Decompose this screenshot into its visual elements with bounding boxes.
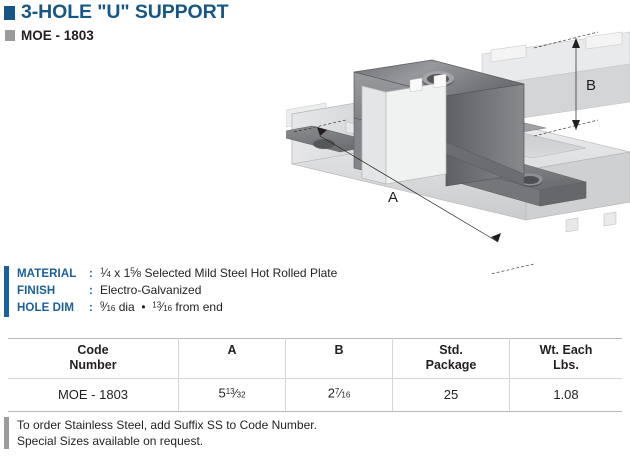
footer-note-1: To order Stainless Steel, add Suffix SS … [17,417,317,433]
product-data-table: Code Number A B Std. Package Wt. Each Lb… [8,338,622,412]
channel-front-lip [362,74,446,184]
header-line-1: A [179,343,285,358]
header-line-1: Code [8,343,178,358]
specs-list: MATERIAL : 1⁄4 x 15⁄8 Selected Mild Stee… [17,266,337,317]
spec-value-material: 1⁄4 x 15⁄8 Selected Mild Steel Hot Rolle… [100,266,337,280]
specs-accent-bar [4,266,9,317]
column-header-std-package: Std. Package [393,339,510,379]
dimension-a-label: A [388,189,398,206]
dimension-b-label: B [586,77,596,94]
cell-b: 27⁄16 [286,379,393,412]
header-line-2: Package [393,358,509,373]
column-header-a: A [179,339,286,379]
product-code-subtitle: MOE - 1803 [21,29,94,43]
column-header-code-number: Code Number [8,339,179,379]
cell-a: 513⁄32 [179,379,286,412]
product-drawing-svg: A B [286,24,630,274]
table-header-row: Code Number A B Std. Package Wt. Each Lb… [8,339,622,379]
header-line-2 [286,358,392,373]
footer-note-2: Special Sizes available on request. [17,433,317,449]
footer-accent-bar [4,417,9,449]
table-row: MOE - 1803 513⁄32 27⁄16 25 1.08 [8,379,622,412]
spec-label-material: MATERIAL [17,268,89,280]
cell-std-package: 25 [393,379,510,412]
header-line-2: Lbs. [510,358,622,373]
spec-row-hole-dim: HOLE DIM : 9⁄16 dia • 13⁄16 from end [17,300,337,317]
product-drawing: A B [286,24,630,274]
title-marker-icon [4,6,15,20]
spec-row-material: MATERIAL : 1⁄4 x 15⁄8 Selected Mild Stee… [17,266,337,283]
footer-notes: To order Stainless Steel, add Suffix SS … [4,417,317,449]
header-line-1: Std. [393,343,509,358]
spec-value-finish: Electro-Galvanized [100,283,201,297]
column-header-wt-each: Wt. Each Lbs. [510,339,623,379]
header-line-2: Number [8,358,178,373]
header-line-1: Wt. Each [510,343,622,358]
spec-row-finish: FINISH : Electro-Galvanized [17,283,337,300]
cell-wt-each: 1.08 [510,379,623,412]
spec-colon-finish: : [89,285,100,297]
cell-code-number: MOE - 1803 [8,379,179,412]
spec-value-hole-dim: 9⁄16 dia • 13⁄16 from end [100,300,223,314]
spec-label-finish: FINISH [17,285,89,297]
footer-lines: To order Stainless Steel, add Suffix SS … [17,417,317,449]
spec-colon-hole-dim: : [89,302,100,314]
spec-label-hole-dim: HOLE DIM [17,302,89,314]
header-line-2 [179,358,285,373]
spec-colon-material: : [89,268,100,280]
specifications: MATERIAL : 1⁄4 x 15⁄8 Selected Mild Stee… [4,266,337,317]
title-row: 3-HOLE "U" SUPPORT [0,0,630,23]
header-line-1: B [286,343,392,358]
page-title: 3-HOLE "U" SUPPORT [21,3,228,23]
subtitle-marker-icon [5,30,15,41]
column-header-b: B [286,339,393,379]
